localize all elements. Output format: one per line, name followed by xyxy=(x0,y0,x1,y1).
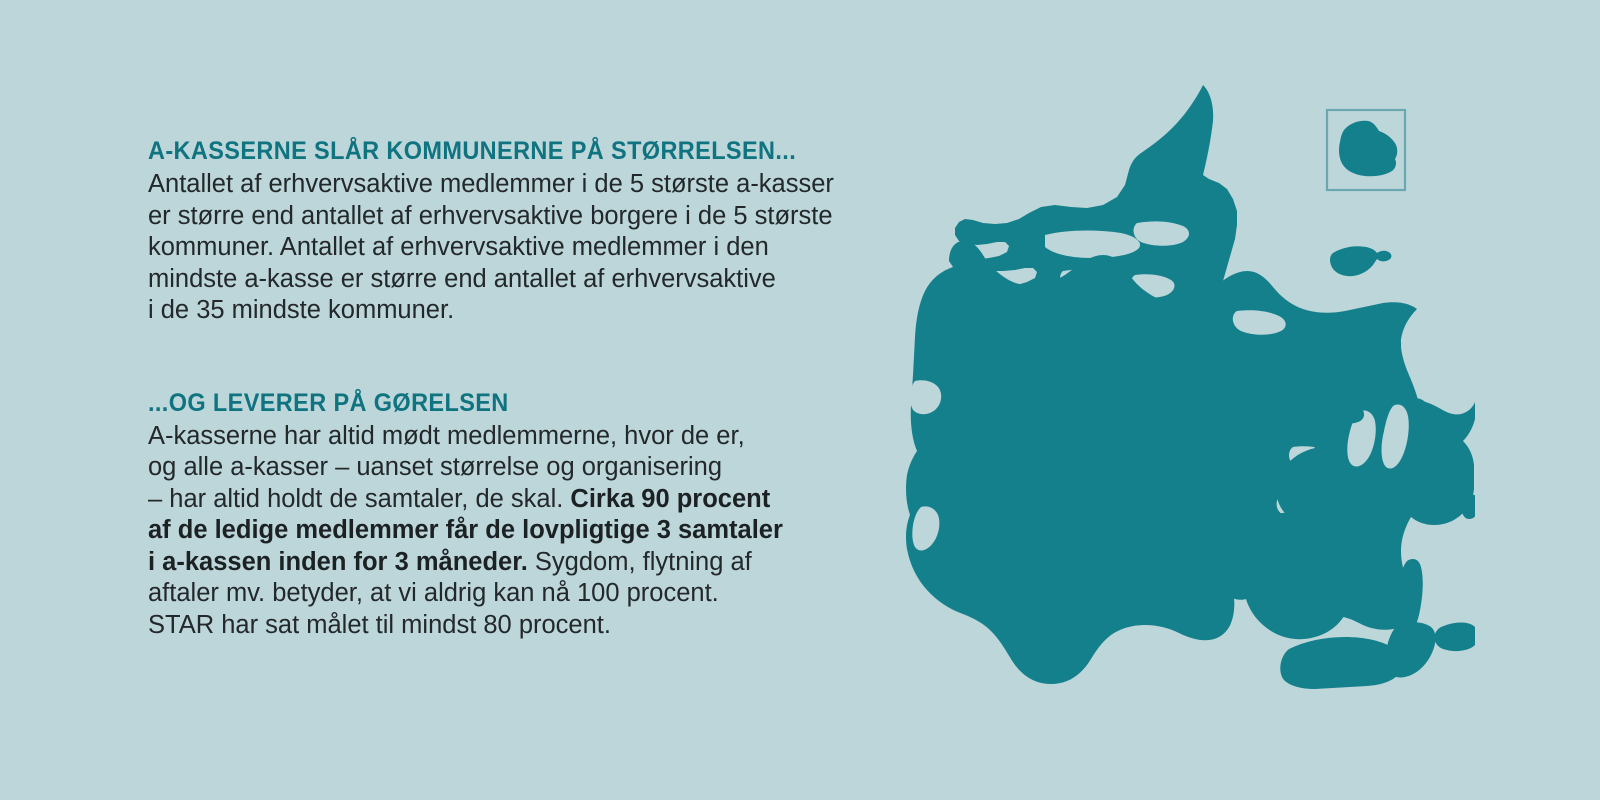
block-1-heading: A-KASSERNE SLÅR KOMMUNERNE PÅ STØRRELSEN… xyxy=(148,136,862,166)
block-2-line-3-regular: – har altid holdt de samtaler, de skal. xyxy=(148,485,570,513)
block-1-line-1: Antallet af erhvervsaktive medlemmer i d… xyxy=(148,169,908,201)
block-2-line-7-text: STAR har sat målet til mindst 80 procent… xyxy=(148,611,611,639)
map-shapes xyxy=(885,75,1475,715)
text-block-1: A-KASSERNE SLÅR KOMMUNERNE PÅ STØRRELSEN… xyxy=(148,136,908,327)
infographic-poster: A-KASSERNE SLÅR KOMMUNERNE PÅ STØRRELSEN… xyxy=(0,0,1600,800)
block-2-line-5-regular: Sygdom, flytning af xyxy=(528,548,752,576)
block-2-line-2-text: og alle a-kasser – uanset størrelse og o… xyxy=(148,453,722,481)
block-2-heading: ...OG LEVERER PÅ GØRELSEN xyxy=(148,388,862,418)
block-2-line-6: aftaler mv. betyder, at vi aldrig kan nå… xyxy=(148,578,908,610)
block-2-line-6-text: aftaler mv. betyder, at vi aldrig kan nå… xyxy=(148,579,719,607)
denmark-map xyxy=(885,75,1475,715)
block-1-line-5: i de 35 mindste kommuner. xyxy=(148,295,908,327)
block-2-line-5: i a-kassen inden for 3 måneder. Sygdom, … xyxy=(148,547,908,579)
text-block-2: ...OG LEVERER PÅ GØRELSEN A-kasserne har… xyxy=(148,388,908,642)
block-2-line-5-bold: i a-kassen inden for 3 måneder. xyxy=(148,548,528,576)
block-2-line-4: af de ledige medlemmer får de lovpligtig… xyxy=(148,515,908,547)
block-2-line-3-bold: Cirka 90 procent xyxy=(570,485,770,513)
block-2-line-3: – har altid holdt de samtaler, de skal. … xyxy=(148,484,908,516)
text-column: A-KASSERNE SLÅR KOMMUNERNE PÅ STØRRELSEN… xyxy=(148,136,908,641)
block-2-line-1-text: A-kasserne har altid mødt medlemmerne, h… xyxy=(148,422,745,450)
block-2-line-7: STAR har sat målet til mindst 80 procent… xyxy=(148,610,908,642)
map-final xyxy=(885,75,1475,715)
block-1-line-3: kommuner. Antallet af erhvervsaktive med… xyxy=(148,232,908,264)
block-1-line-4: mindste a-kasse er større end antallet a… xyxy=(148,264,908,296)
block-2-line-1: A-kasserne har altid mødt medlemmerne, h… xyxy=(148,421,908,453)
block-2-body: A-kasserne har altid mødt medlemmerne, h… xyxy=(148,421,908,642)
block-2-line-2: og alle a-kasser – uanset størrelse og o… xyxy=(148,452,908,484)
block-1-line-2: er større end antallet af erhvervsaktive… xyxy=(148,201,908,233)
block-2-line-4-bold: af de ledige medlemmer får de lovpligtig… xyxy=(148,516,783,544)
map-limfjord-water xyxy=(1045,231,1140,258)
block-1-body: Antallet af erhvervsaktive medlemmer i d… xyxy=(148,169,908,327)
